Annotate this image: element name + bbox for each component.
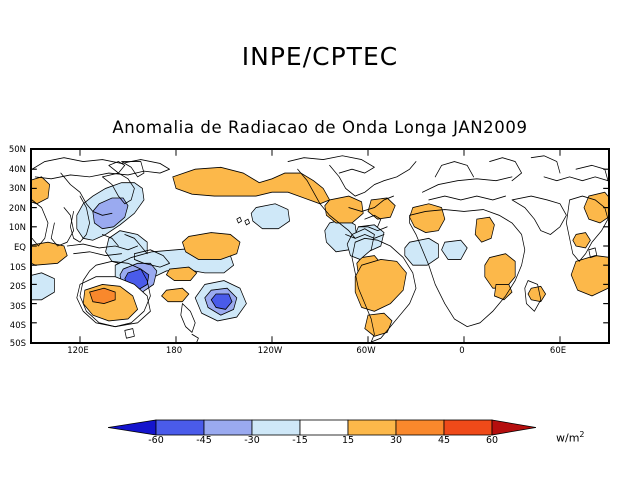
y-tick-9: 40S xyxy=(10,321,26,331)
cbar-tick-7: 60 xyxy=(486,435,498,446)
region-eafrica-pos-b xyxy=(494,284,512,299)
y-tick-4: 10N xyxy=(9,223,26,233)
region-madagascar-pos xyxy=(528,286,546,301)
region-natl-pos-a xyxy=(325,196,363,223)
y-tick-8: 30S xyxy=(10,302,26,312)
y-tick-1: 40N xyxy=(9,165,26,175)
page-title: INPE/CPTEC xyxy=(0,42,640,71)
cbar-tick-0: -60 xyxy=(148,435,164,446)
colorbar-band-n45-n30 xyxy=(204,420,252,435)
region-swindian-pos xyxy=(571,256,608,296)
colorbar-band-30-45 xyxy=(396,420,444,435)
region-wpac-pos xyxy=(182,233,240,260)
x-tick-1: 180 xyxy=(166,346,182,356)
x-tick-0: 120E xyxy=(67,346,89,356)
region-npac-pos xyxy=(173,167,330,203)
region-spac-pos-a xyxy=(166,267,196,280)
region-west-margin-b xyxy=(32,242,67,265)
region-india-pos xyxy=(573,233,591,248)
anomaly-map xyxy=(32,150,608,342)
region-samerica-pos xyxy=(355,259,406,311)
cbar-tick-4: 15 xyxy=(342,435,354,446)
region-spac-pos-b xyxy=(162,288,189,301)
cbar-tick-6: 45 xyxy=(438,435,450,446)
colorbar-band-n60-n45 xyxy=(156,420,204,435)
chart-page: INPE/CPTEC Anomalia de Radiacao de Onda … xyxy=(0,0,640,494)
colorbar-band-n30-n15 xyxy=(252,420,300,435)
region-sepac-neg xyxy=(32,273,54,300)
chart-subtitle: Anomalia de Radiacao de Onda Longa JAN20… xyxy=(0,118,640,137)
y-tick-5: EQ xyxy=(14,243,26,253)
region-guinea-neg xyxy=(442,240,468,259)
x-tick-5: 60E xyxy=(550,346,566,356)
colorbar-band-n15-15 xyxy=(300,420,348,435)
region-ssamerica-pos xyxy=(365,313,392,336)
x-tick-4: 0 xyxy=(459,346,464,356)
region-tropatl-neg xyxy=(405,238,439,265)
colorbar-units: w/m2 xyxy=(556,430,585,445)
map-plot-area xyxy=(30,148,610,344)
colorbar-band-45-60 xyxy=(444,420,492,435)
units-base: w/m xyxy=(556,432,579,445)
colorbar-band-below-min xyxy=(108,420,156,435)
colorbar-tick-labels: -60 -45 -30 -15 15 30 45 60 xyxy=(108,435,536,449)
y-tick-3: 20N xyxy=(9,204,26,214)
x-tick-3: 60W xyxy=(356,346,375,356)
colorbar-band-15-30 xyxy=(348,420,396,435)
colorbar-band-above-max xyxy=(492,420,536,435)
y-tick-10: 50S xyxy=(10,339,26,349)
y-tick-2: 30N xyxy=(9,184,26,194)
y-tick-0: 50N xyxy=(9,145,26,155)
cbar-tick-2: -30 xyxy=(244,435,260,446)
region-epac-neg xyxy=(251,204,289,229)
y-tick-7: 20S xyxy=(10,282,26,292)
x-axis-labels: 120E 180 120W 60W 0 60E xyxy=(30,346,610,362)
region-eafrica-pos xyxy=(485,254,515,289)
anomaly-shading xyxy=(32,167,608,336)
cbar-tick-1: -45 xyxy=(196,435,212,446)
cbar-tick-3: -15 xyxy=(292,435,308,446)
region-sahel-pos xyxy=(475,217,494,242)
y-tick-6: 10S xyxy=(10,263,26,273)
region-wafrica-pos xyxy=(410,204,445,233)
y-axis-labels: 50N 40N 30N 20N 10N EQ 10S 20S 30S 40S 5… xyxy=(0,148,30,344)
x-tick-2: 120W xyxy=(258,346,283,356)
units-exponent: 2 xyxy=(579,430,584,439)
map-clip xyxy=(32,150,608,342)
cbar-tick-5: 30 xyxy=(390,435,402,446)
region-west-margin-a xyxy=(32,177,50,204)
